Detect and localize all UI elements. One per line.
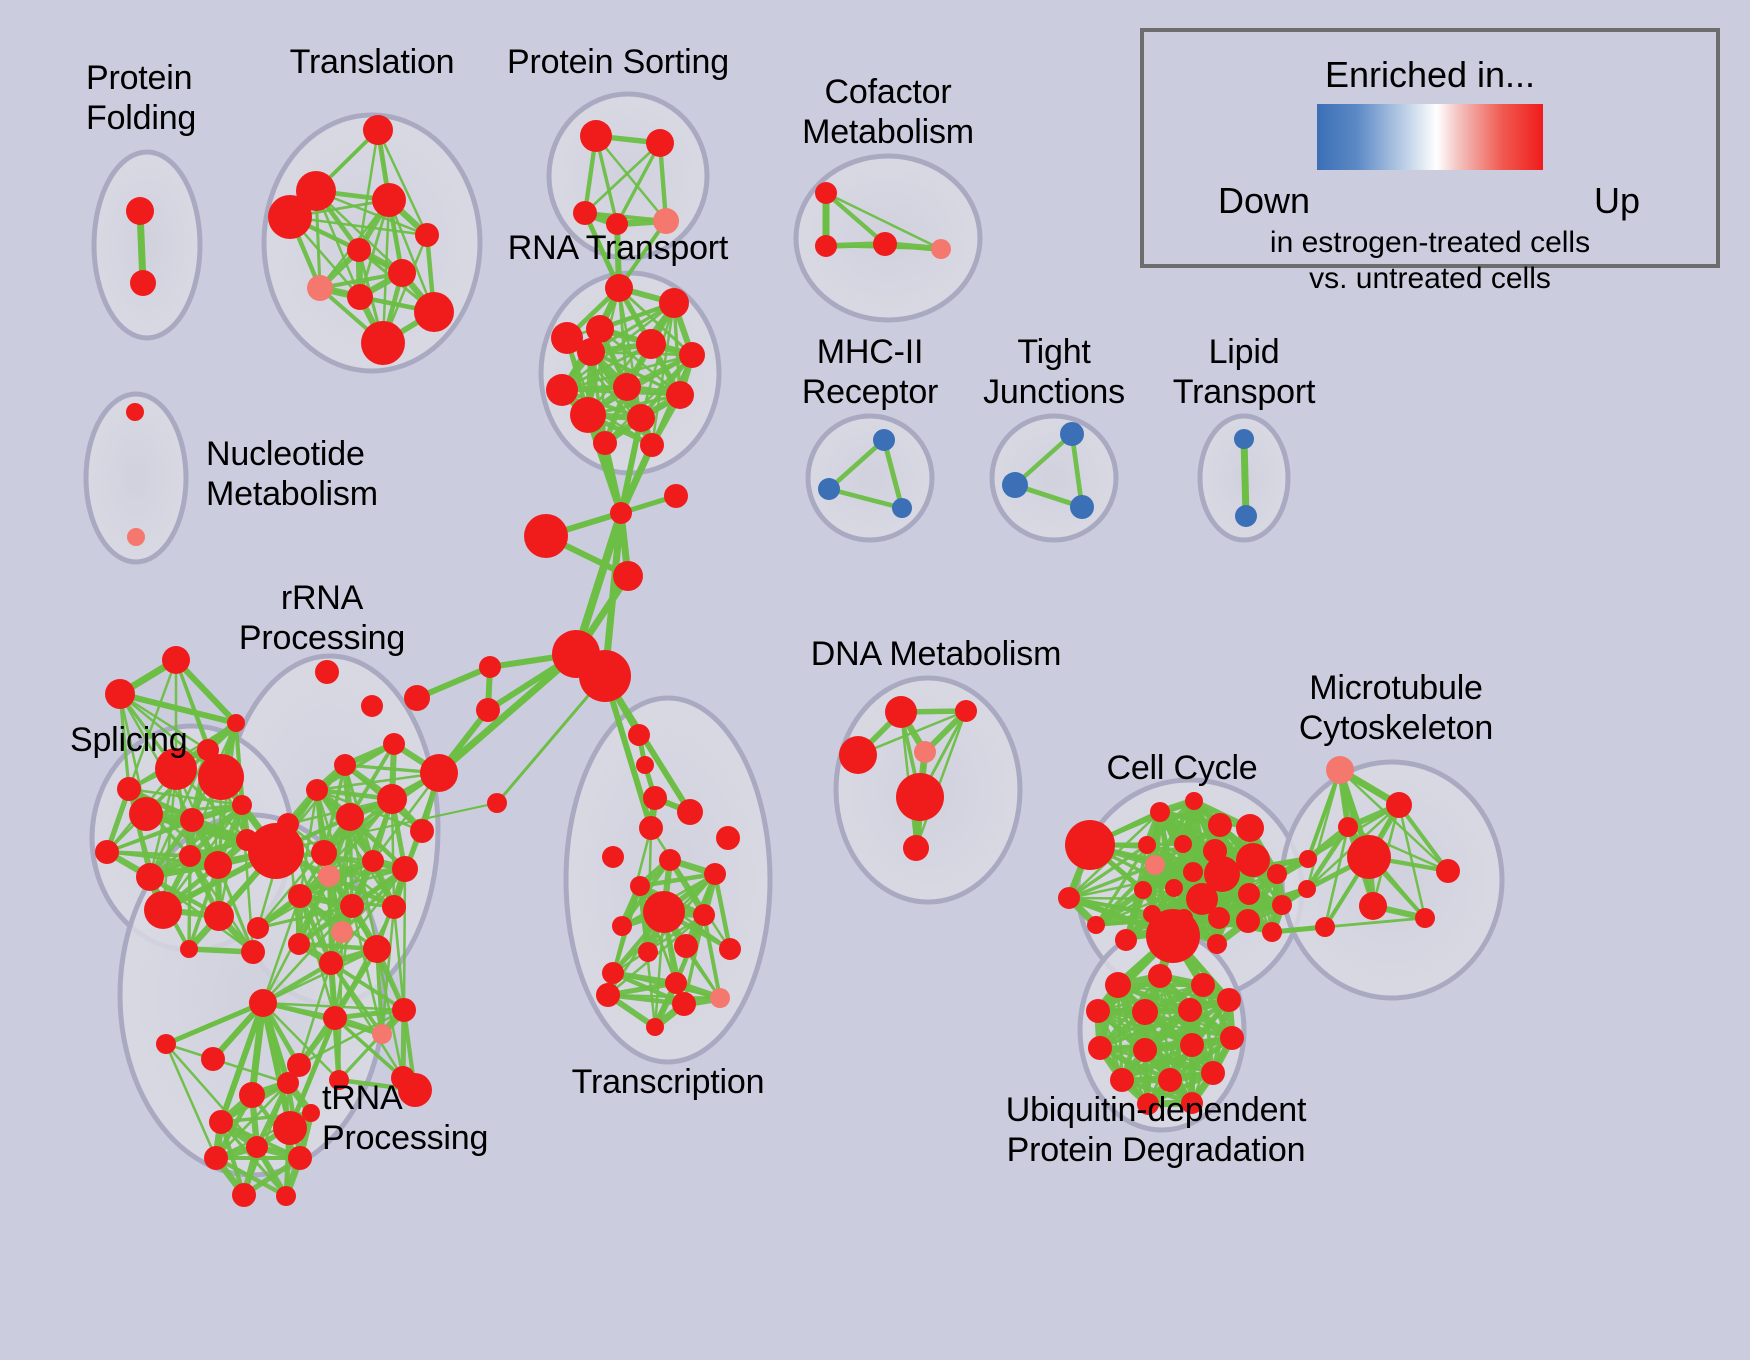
gene-set-node[interactable] (596, 983, 620, 1007)
network-edge (1244, 439, 1246, 516)
gene-set-node[interactable] (1299, 850, 1317, 868)
gene-set-node[interactable] (573, 201, 597, 225)
gene-set-node[interactable] (638, 942, 658, 962)
gene-set-node[interactable] (277, 1072, 299, 1094)
gene-set-node[interactable] (404, 685, 430, 711)
cluster-label-rna-transport: RNA Transport (508, 228, 728, 268)
gene-set-node[interactable] (646, 1018, 664, 1036)
gene-set-node[interactable] (577, 338, 605, 366)
gene-set-node[interactable] (487, 793, 507, 813)
gene-set-node[interactable] (288, 884, 312, 908)
gene-set-node[interactable] (319, 951, 343, 975)
gene-set-node[interactable] (1086, 999, 1110, 1023)
legend-title: Enriched in... (1144, 54, 1716, 96)
gene-set-node[interactable] (1208, 813, 1232, 837)
legend-caption-line-1: in estrogen-treated cells (1144, 226, 1716, 260)
gene-set-node[interactable] (415, 223, 439, 247)
cluster-label-cell-cycle: Cell Cycle (1106, 748, 1257, 788)
gene-set-node[interactable] (636, 756, 654, 774)
gene-set-node[interactable] (363, 115, 393, 145)
cluster-label-line: Microtubule (1299, 668, 1493, 708)
gene-set-node[interactable] (672, 992, 696, 1016)
gene-set-node[interactable] (372, 183, 406, 217)
cluster-label-line: tRNA (322, 1078, 488, 1118)
gene-set-node[interactable] (602, 846, 624, 868)
cluster-hull-mhc-ii-receptor (808, 416, 932, 540)
gene-set-node[interactable] (674, 934, 698, 958)
cluster-label-line: Protein (86, 58, 196, 98)
gene-set-node[interactable] (1105, 972, 1131, 998)
network-edge (1069, 898, 1202, 899)
gene-set-node[interactable] (362, 850, 384, 872)
cluster-label-line: Lipid (1173, 332, 1315, 372)
gene-set-node[interactable] (232, 1183, 256, 1207)
cluster-label-line: Folding (86, 98, 196, 138)
gene-set-node[interactable] (605, 274, 633, 302)
gene-set-node[interactable] (1191, 973, 1215, 997)
cluster-label-line: Tight (983, 332, 1125, 372)
gene-set-node[interactable] (1065, 820, 1115, 870)
gene-set-node[interactable] (914, 741, 936, 763)
cluster-label-line: Metabolism (802, 112, 974, 152)
gene-set-node[interactable] (627, 404, 655, 432)
gene-set-node[interactable] (1178, 998, 1202, 1022)
gene-set-node[interactable] (873, 232, 897, 256)
gene-set-node[interactable] (201, 1047, 225, 1071)
gene-set-node[interactable] (179, 845, 201, 867)
cluster-label-line: Cytoskeleton (1299, 708, 1493, 748)
gene-set-node[interactable] (818, 478, 840, 500)
gene-set-node[interactable] (126, 403, 144, 421)
cluster-label-line: Junctions (983, 372, 1125, 412)
gene-set-node[interactable] (273, 1111, 307, 1145)
gene-set-node[interactable] (1002, 472, 1028, 498)
gene-set-node[interactable] (248, 823, 304, 879)
gene-set-node[interactable] (896, 773, 944, 821)
cluster-label-translation: Translation (290, 42, 455, 82)
gene-set-node[interactable] (247, 917, 269, 939)
gene-set-node[interactable] (307, 275, 333, 301)
gene-set-node[interactable] (546, 374, 578, 406)
gene-set-node[interactable] (288, 1146, 312, 1170)
cluster-label-line: Splicing (70, 720, 187, 760)
gene-set-node[interactable] (315, 660, 339, 684)
enrichment-map-figure: ProteinFoldingTranslationProtein Sorting… (0, 0, 1750, 1360)
gene-set-node[interactable] (1180, 1033, 1204, 1057)
gene-set-node[interactable] (117, 777, 141, 801)
cluster-label-rrna-processing: rRNAProcessing (239, 578, 405, 658)
gene-set-node[interactable] (659, 288, 689, 318)
gene-set-node[interactable] (815, 235, 837, 257)
gene-set-node[interactable] (628, 724, 650, 746)
gene-set-node[interactable] (1236, 843, 1270, 877)
gene-set-node[interactable] (377, 784, 407, 814)
gene-set-node[interactable] (420, 754, 458, 792)
gene-set-node[interactable] (1220, 1026, 1244, 1050)
legend-caption-line-2: vs. untreated cells (1144, 262, 1716, 296)
gene-set-node[interactable] (246, 1136, 268, 1158)
cluster-label-line: Processing (239, 618, 405, 658)
gene-set-node[interactable] (130, 270, 156, 296)
cluster-label-microtubule-cytoskeleton: MicrotubuleCytoskeleton (1299, 668, 1493, 748)
gene-set-node[interactable] (643, 786, 667, 810)
gene-set-node[interactable] (302, 1104, 320, 1122)
cluster-label-lipid-transport: LipidTransport (1173, 332, 1315, 412)
gene-set-node[interactable] (204, 901, 234, 931)
gene-set-node[interactable] (1315, 917, 1335, 937)
gene-set-node[interactable] (318, 865, 340, 887)
gene-set-node[interactable] (1132, 999, 1158, 1025)
gene-set-node[interactable] (1070, 495, 1094, 519)
cluster-label-tight-junctions: TightJunctions (983, 332, 1125, 412)
gene-set-node[interactable] (129, 797, 163, 831)
gene-set-node[interactable] (388, 259, 416, 287)
gene-set-node[interactable] (334, 754, 356, 776)
gene-set-node[interactable] (1208, 907, 1230, 929)
cluster-label-line: DNA Metabolism (811, 634, 1061, 674)
gene-set-node[interactable] (524, 514, 568, 558)
cluster-label-protein-sorting: Protein Sorting (507, 42, 729, 82)
gene-set-node[interactable] (1217, 988, 1241, 1012)
cluster-label-line: Protein Degradation (1006, 1130, 1307, 1170)
gene-set-node[interactable] (372, 1024, 392, 1044)
gene-set-node[interactable] (1236, 814, 1264, 842)
gene-set-node[interactable] (414, 292, 454, 332)
gene-set-node[interactable] (1110, 1068, 1134, 1092)
gene-set-node[interactable] (1338, 817, 1358, 837)
gene-set-node[interactable] (476, 698, 500, 722)
cluster-label-line: Processing (322, 1118, 488, 1158)
gene-set-node[interactable] (136, 863, 164, 891)
gene-set-node[interactable] (931, 239, 951, 259)
gene-set-node[interactable] (1158, 1068, 1182, 1092)
cluster-label-line: Transport (1173, 372, 1315, 412)
cluster-label-nucleotide-metabolism: NucleotideMetabolism (206, 434, 378, 514)
cluster-label-line: Nucleotide (206, 434, 378, 474)
cluster-label-line: Transcription (572, 1062, 765, 1102)
cluster-label-line: Translation (290, 42, 455, 82)
gene-set-node[interactable] (1088, 1036, 1112, 1060)
gene-set-node[interactable] (636, 329, 666, 359)
gene-set-node[interactable] (95, 840, 119, 864)
gene-set-node[interactable] (593, 431, 617, 455)
gene-set-node[interactable] (704, 863, 726, 885)
gene-set-node[interactable] (613, 373, 641, 401)
gene-set-node[interactable] (580, 120, 612, 152)
gene-set-node[interactable] (1436, 859, 1460, 883)
gene-set-node[interactable] (1150, 802, 1170, 822)
cluster-label-protein-folding: ProteinFolding (86, 58, 196, 138)
network-edge (404, 869, 405, 1010)
gene-set-node[interactable] (1234, 429, 1254, 449)
gene-set-node[interactable] (232, 795, 252, 815)
gene-set-node[interactable] (719, 938, 741, 960)
cluster-label-trna-processing: tRNAProcessing (322, 1078, 488, 1158)
gene-set-node[interactable] (209, 1110, 233, 1134)
gene-set-node[interactable] (1207, 934, 1227, 954)
gene-set-node[interactable] (340, 894, 364, 918)
gene-set-node[interactable] (1359, 892, 1387, 920)
cluster-label-line: Metabolism (206, 474, 378, 514)
gene-set-node[interactable] (1386, 792, 1412, 818)
cluster-label-line: Ubiquitin-dependent (1006, 1090, 1307, 1130)
cluster-label-cofactor-metabolism: CofactorMetabolism (802, 72, 974, 152)
network-edge (439, 654, 576, 773)
gene-set-node[interactable] (1415, 908, 1435, 928)
gene-set-node[interactable] (570, 397, 606, 433)
legend-low-label: Down (1218, 180, 1310, 222)
gene-set-node[interactable] (1165, 879, 1183, 897)
gene-set-node[interactable] (1236, 909, 1260, 933)
gene-set-node[interactable] (336, 803, 364, 831)
gene-set-node[interactable] (693, 904, 715, 926)
gene-set-node[interactable] (198, 754, 244, 800)
gene-set-node[interactable] (665, 972, 687, 994)
gene-set-node[interactable] (383, 733, 405, 755)
gene-set-node[interactable] (815, 182, 837, 204)
gene-set-node[interactable] (276, 1186, 296, 1206)
gene-set-node[interactable] (955, 700, 977, 722)
gene-set-node[interactable] (579, 650, 631, 702)
cluster-label-line: rRNA (239, 578, 405, 618)
gene-set-node[interactable] (677, 799, 703, 825)
gene-set-node[interactable] (1267, 864, 1287, 884)
gene-set-node[interactable] (180, 940, 198, 958)
gene-set-node[interactable] (892, 498, 912, 518)
cluster-label-line: RNA Transport (508, 228, 728, 268)
gene-set-node[interactable] (1145, 855, 1165, 875)
gene-set-node[interactable] (1298, 880, 1316, 898)
gene-set-node[interactable] (679, 342, 705, 368)
gene-set-node[interactable] (479, 656, 501, 678)
gene-set-node[interactable] (1148, 964, 1172, 988)
gene-set-node[interactable] (410, 819, 434, 843)
gene-set-node[interactable] (602, 962, 624, 984)
gene-set-node[interactable] (903, 835, 929, 861)
gene-set-node[interactable] (664, 484, 688, 508)
gene-set-node[interactable] (1087, 916, 1105, 934)
gene-set-node[interactable] (716, 826, 740, 850)
cluster-label-mhc-ii-receptor: MHC-IIReceptor (802, 332, 938, 412)
gene-set-node[interactable] (204, 851, 232, 879)
gene-set-node[interactable] (659, 849, 681, 871)
gene-set-node[interactable] (1201, 1061, 1225, 1085)
gene-set-node[interactable] (710, 988, 730, 1008)
gene-set-node[interactable] (646, 129, 674, 157)
cluster-label-ubiquitin-protein-degradation: Ubiquitin-dependentProtein Degradation (1006, 1090, 1307, 1170)
gene-set-node[interactable] (1183, 862, 1203, 882)
gene-set-node[interactable] (1347, 835, 1391, 879)
cluster-label-line: Cell Cycle (1106, 748, 1257, 788)
gene-set-node[interactable] (331, 921, 353, 943)
cluster-label-line: Protein Sorting (507, 42, 729, 82)
gene-set-node[interactable] (268, 195, 312, 239)
gene-set-node[interactable] (1185, 792, 1203, 810)
gene-set-node[interactable] (1134, 881, 1152, 899)
gene-set-node[interactable] (640, 433, 664, 457)
gene-set-node[interactable] (241, 940, 265, 964)
gene-set-node[interactable] (156, 1034, 176, 1054)
gene-set-node[interactable] (347, 238, 371, 262)
gene-set-node[interactable] (227, 714, 245, 732)
cluster-label-line: Cofactor (802, 72, 974, 112)
gene-set-node[interactable] (1272, 895, 1292, 915)
gene-set-node[interactable] (162, 646, 190, 674)
gene-set-node[interactable] (613, 561, 643, 591)
legend-high-label: Up (1594, 180, 1640, 222)
gene-set-node[interactable] (392, 856, 418, 882)
gene-set-node[interactable] (323, 1006, 347, 1030)
gene-set-node[interactable] (144, 891, 182, 929)
gene-set-node[interactable] (363, 935, 391, 963)
gene-set-node[interactable] (1146, 909, 1200, 963)
cluster-label-line: MHC-II (802, 332, 938, 372)
gene-set-node[interactable] (311, 840, 337, 866)
gene-set-node[interactable] (1058, 887, 1080, 909)
gene-set-node[interactable] (1060, 422, 1084, 446)
gene-set-node[interactable] (839, 736, 877, 774)
gene-set-node[interactable] (1235, 505, 1257, 527)
gene-set-node[interactable] (361, 321, 405, 365)
gene-set-node[interactable] (1262, 922, 1282, 942)
gene-set-node[interactable] (347, 284, 373, 310)
gene-set-node[interactable] (127, 528, 145, 546)
gene-set-node[interactable] (630, 876, 650, 896)
gene-set-node[interactable] (1133, 1038, 1157, 1062)
gene-set-node[interactable] (288, 933, 310, 955)
cluster-hull-protein-folding (94, 152, 200, 338)
gene-set-node[interactable] (1174, 835, 1192, 853)
gene-set-node[interactable] (1326, 756, 1354, 784)
legend-panel: Enriched in... Down Up in estrogen-treat… (1140, 28, 1720, 268)
gene-set-node[interactable] (885, 696, 917, 728)
gene-set-node[interactable] (1238, 883, 1260, 905)
cluster-label-line: Receptor (802, 372, 938, 412)
legend-color-bar (1317, 104, 1543, 170)
gene-set-node[interactable] (361, 695, 383, 717)
gene-set-node[interactable] (1138, 836, 1156, 854)
gene-set-node[interactable] (612, 916, 632, 936)
gene-set-node[interactable] (126, 197, 154, 225)
cluster-label-dna-metabolism: DNA Metabolism (811, 634, 1061, 674)
gene-set-node[interactable] (204, 1146, 228, 1170)
gene-set-node[interactable] (105, 679, 135, 709)
cluster-label-splicing: Splicing (70, 720, 187, 760)
gene-set-node[interactable] (1115, 929, 1137, 951)
gene-set-node[interactable] (666, 381, 694, 409)
gene-set-node[interactable] (249, 989, 277, 1017)
cluster-label-transcription: Transcription (572, 1062, 765, 1102)
gene-set-node[interactable] (639, 816, 663, 840)
gene-set-node[interactable] (180, 808, 204, 832)
gene-set-node[interactable] (382, 895, 406, 919)
gene-set-node[interactable] (643, 891, 685, 933)
gene-set-node[interactable] (392, 998, 416, 1022)
gene-set-node[interactable] (306, 779, 328, 801)
gene-set-node[interactable] (610, 502, 632, 524)
gene-set-node[interactable] (873, 429, 895, 451)
gene-set-node[interactable] (239, 1082, 265, 1108)
